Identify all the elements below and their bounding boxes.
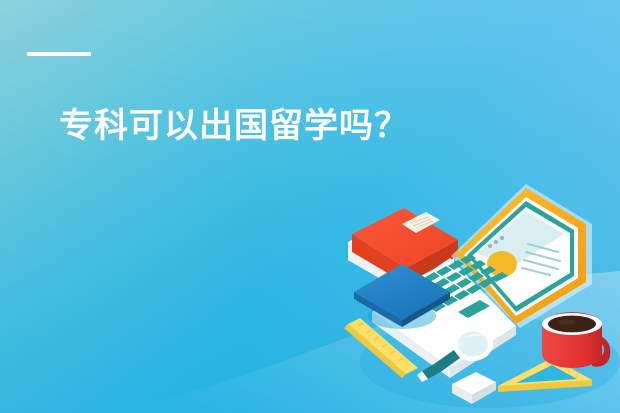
title-accent-rule <box>27 52 91 56</box>
page-title: 专科可以出国留学吗？ <box>59 106 409 146</box>
coffee-mug-icon <box>542 312 610 368</box>
study-desk-illustration <box>330 172 620 413</box>
article-cover-banner: 专科可以出国留学吗？ <box>0 0 620 413</box>
